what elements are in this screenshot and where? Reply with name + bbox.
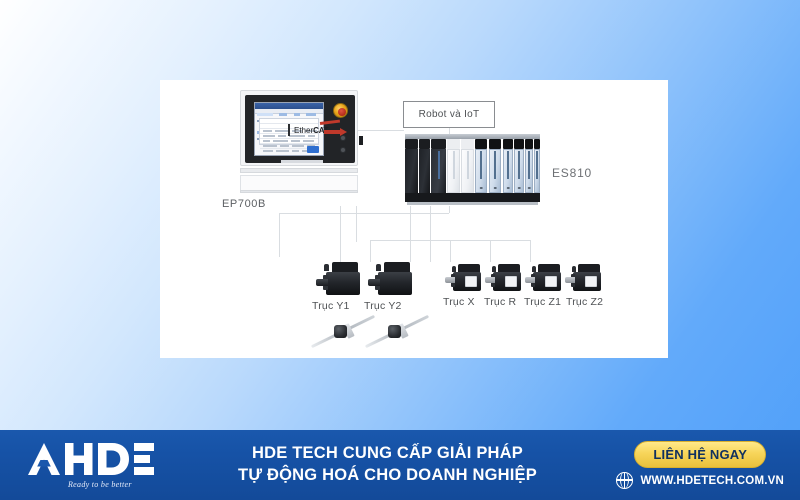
wire-axis-bus-right: [530, 240, 531, 262]
hmi-footplate: [240, 168, 358, 173]
rack-bottom-rail: [405, 193, 540, 202]
rack-foot: [407, 202, 538, 205]
rack-module-axis-2[interactable]: [489, 139, 501, 193]
contact-now-button[interactable]: LIÊN HỆ NGAY: [634, 441, 766, 468]
wire-axis-tap-z1: [450, 240, 451, 262]
slogan-line-2: TỰ ĐỘNG HOÁ CHO DOANH NGHIỆP: [190, 465, 585, 487]
diagram-card: EP700B EtherCAT. Robot và IoT ES810: [160, 80, 668, 358]
rack-module-axis-6[interactable]: [534, 139, 540, 193]
hmi-base-rail: [240, 190, 358, 193]
bottom-banner: Ready to be better HDE TECH CUNG CẤP GIẢ…: [0, 430, 800, 500]
motor-label-x: Trục X: [443, 296, 475, 308]
company-logo[interactable]: Ready to be better: [24, 439, 164, 491]
servo-motor-y2[interactable]: [368, 262, 416, 296]
rack-module-io-2[interactable]: [461, 139, 474, 193]
operator-panel-ep700b[interactable]: [240, 90, 358, 190]
servo-motor-z1[interactable]: [525, 264, 565, 294]
robot-iot-box[interactable]: Robot và IoT: [403, 101, 495, 128]
wire-rack-tap-1: [449, 206, 450, 213]
motor-label-z1: Trục Z1: [524, 296, 561, 308]
motor-label-z2: Trục Z2: [566, 296, 603, 308]
motor-label-y1: Trục Y1: [312, 300, 350, 312]
wire-y2-feed: [356, 206, 357, 242]
ethercat-tick: [288, 124, 290, 136]
hmi-knob-power[interactable]: [340, 147, 346, 153]
servo-motor-z2[interactable]: [565, 264, 605, 294]
wire-axis-tap-r: [430, 206, 431, 262]
banner-cta-group: LIÊN HỆ NGAY WWW.HDETECH.COM.VN: [616, 441, 784, 489]
servo-motor-x[interactable]: [445, 264, 485, 294]
rack-module-axis-5[interactable]: [525, 139, 533, 193]
servo-motor-r[interactable]: [485, 264, 525, 294]
wire-rack-bus-drop: [279, 213, 280, 257]
robot-iot-label: Robot và IoT: [419, 109, 480, 120]
rack-module-axis-4[interactable]: [514, 139, 524, 193]
wire-y1-feed: [340, 206, 341, 264]
wire-rack-bus: [279, 213, 449, 214]
ethercat-logo: EtherCAT.: [288, 122, 344, 138]
rack-module-io-1[interactable]: [447, 139, 460, 193]
wire-axis-bus-left: [370, 240, 371, 262]
ball-screw-y2: [362, 312, 432, 352]
rack-module-axis-3[interactable]: [503, 139, 513, 193]
label-es810: ES810: [552, 166, 592, 180]
ethercat-prefix: Ether: [294, 126, 313, 135]
hmi-ethercat-port: [359, 136, 363, 145]
rack-module-cpu[interactable]: [431, 139, 446, 193]
motor-label-r: Trục R: [484, 296, 516, 308]
wire-axis-tap-z2: [490, 240, 491, 262]
rack-module-axis-1[interactable]: [475, 139, 487, 193]
globe-icon: [616, 472, 633, 489]
ethercat-arrow-icon: [324, 130, 341, 134]
website-row[interactable]: WWW.HDETECH.COM.VN: [616, 472, 784, 489]
hmi-screen-toolbar: [255, 109, 323, 114]
rack-module-power-2[interactable]: [419, 139, 430, 193]
hmi-screen-confirm-button[interactable]: [307, 146, 319, 153]
wire-axis-tap-x: [410, 206, 411, 262]
servo-motor-y1[interactable]: [316, 262, 364, 296]
website-url: WWW.HDETECH.COM.VN: [640, 475, 784, 487]
hmi-brand-strip: [281, 160, 323, 163]
emergency-stop-icon[interactable]: [333, 103, 348, 118]
rack-module-power[interactable]: [405, 139, 418, 193]
drive-rack-es810[interactable]: [405, 134, 540, 206]
slogan-line-1: HDE TECH CUNG CẤP GIẢI PHÁP: [190, 443, 585, 465]
motor-label-y2: Trục Y2: [364, 300, 402, 312]
banner-slogan: HDE TECH CUNG CẤP GIẢI PHÁP TỰ ĐỘNG HOÁ …: [190, 443, 585, 487]
logo-tagline: Ready to be better: [68, 480, 132, 489]
label-ep700b: EP700B: [222, 198, 266, 210]
